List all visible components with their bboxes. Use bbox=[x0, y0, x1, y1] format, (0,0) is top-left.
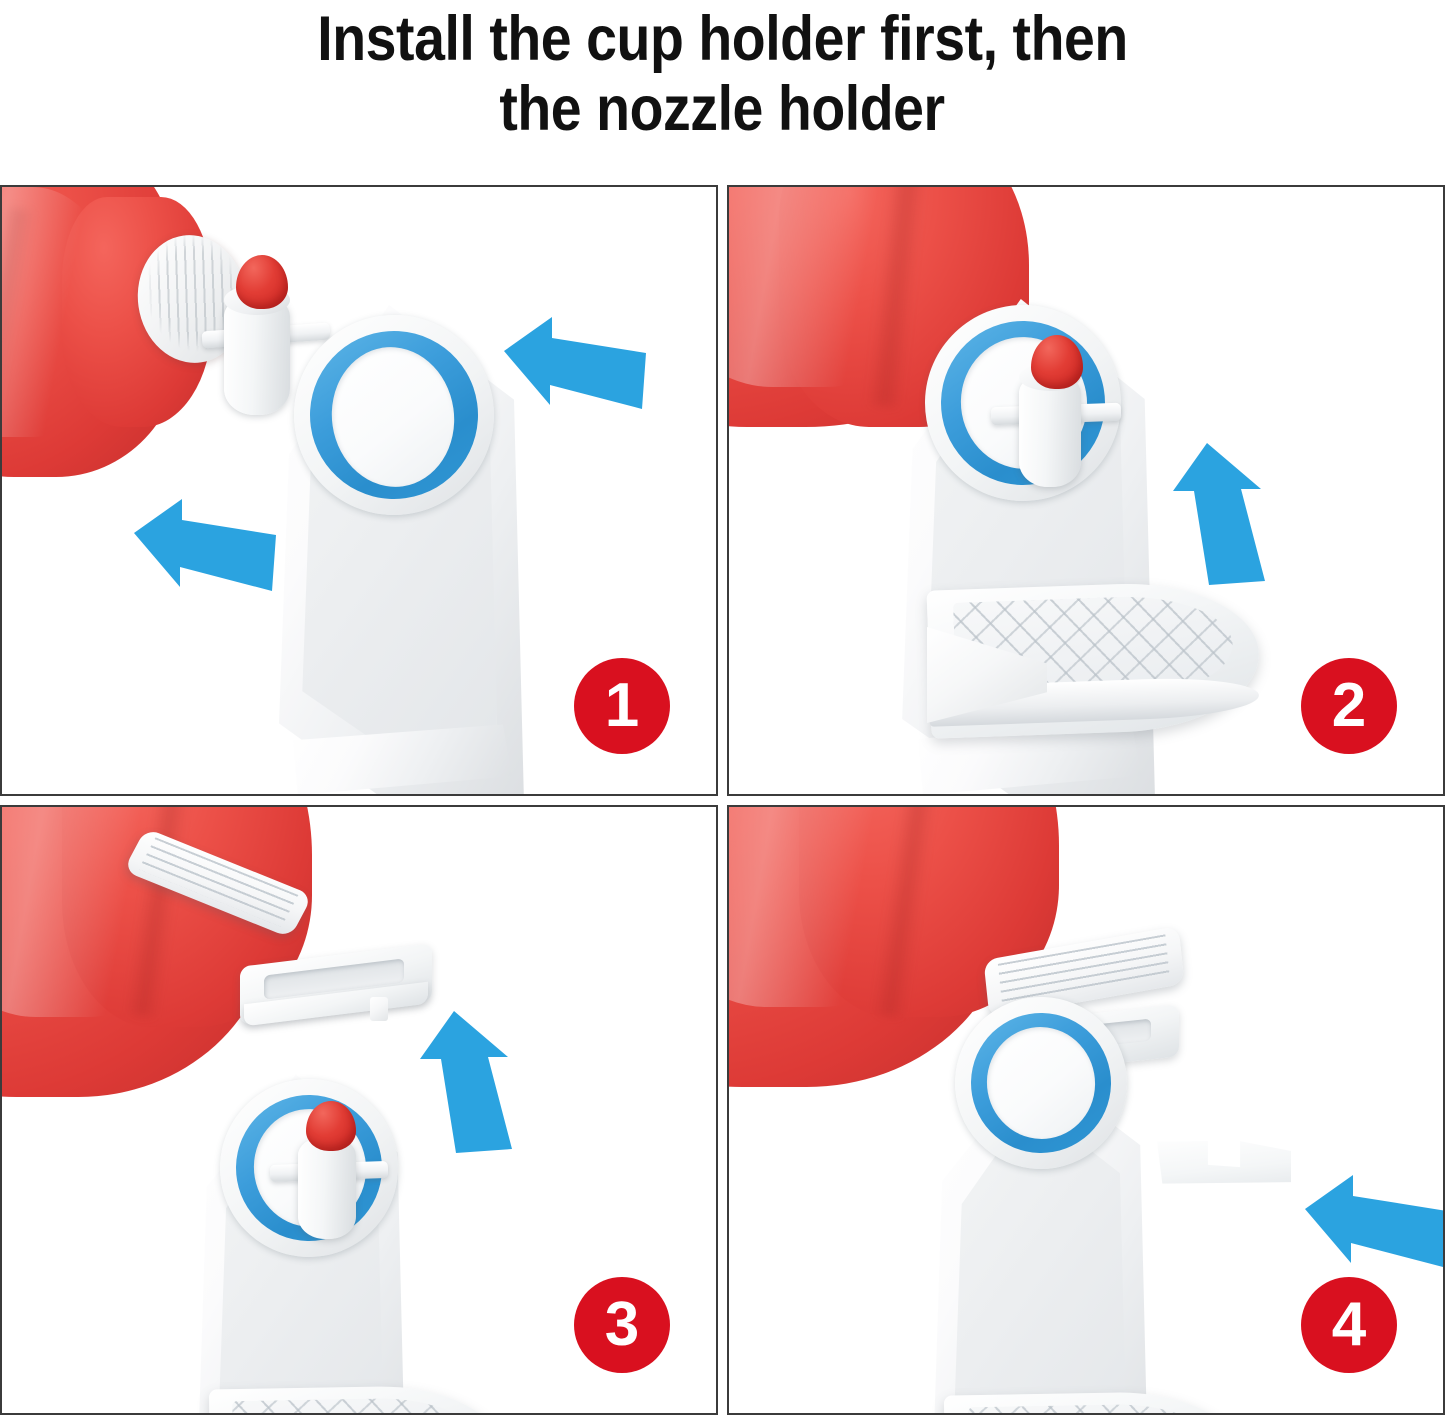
drip-tray-grid-pattern bbox=[968, 1402, 1218, 1415]
step-panel-1: 1 bbox=[0, 185, 718, 796]
step-panel-4: 4 bbox=[727, 805, 1445, 1416]
instruction-image: Install the cup holder first, then the n… bbox=[0, 0, 1445, 1417]
step-badge-4: 4 bbox=[1301, 1277, 1397, 1373]
step-panel-grid: 1 bbox=[0, 185, 1445, 1415]
arrow-upper-right-icon bbox=[500, 305, 650, 413]
title-line-1: Install the cup holder first, then bbox=[317, 4, 1128, 74]
step-panel-3: 3 bbox=[0, 805, 718, 1416]
bottle-spout bbox=[298, 1137, 356, 1239]
step-badge-2-label: 2 bbox=[1332, 675, 1366, 737]
title-line-2: the nozzle holder bbox=[500, 74, 945, 144]
drip-tray bbox=[209, 1384, 501, 1415]
nozzle-holder-hinge-post bbox=[370, 997, 388, 1021]
arrow-lower-left-icon bbox=[130, 487, 280, 595]
drip-tray-grid-pattern bbox=[232, 1396, 477, 1415]
u-shaped-nozzle-clip bbox=[1157, 1134, 1291, 1195]
red-dispenser-button bbox=[236, 255, 288, 309]
arrow-down-icon bbox=[408, 1007, 516, 1157]
step-badge-2: 2 bbox=[1301, 658, 1397, 754]
step-badge-3-label: 3 bbox=[605, 1294, 639, 1356]
arrow-left-icon bbox=[1301, 1163, 1445, 1271]
page-title: Install the cup holder first, then the n… bbox=[0, 0, 1445, 185]
step-panel-2: 2 bbox=[727, 185, 1445, 796]
step-badge-1: 1 bbox=[574, 658, 670, 754]
step-badge-3: 3 bbox=[574, 1277, 670, 1373]
arrow-down-icon bbox=[1161, 439, 1269, 589]
step-badge-4-label: 4 bbox=[1332, 1294, 1366, 1356]
step-badge-1-label: 1 bbox=[605, 675, 639, 737]
